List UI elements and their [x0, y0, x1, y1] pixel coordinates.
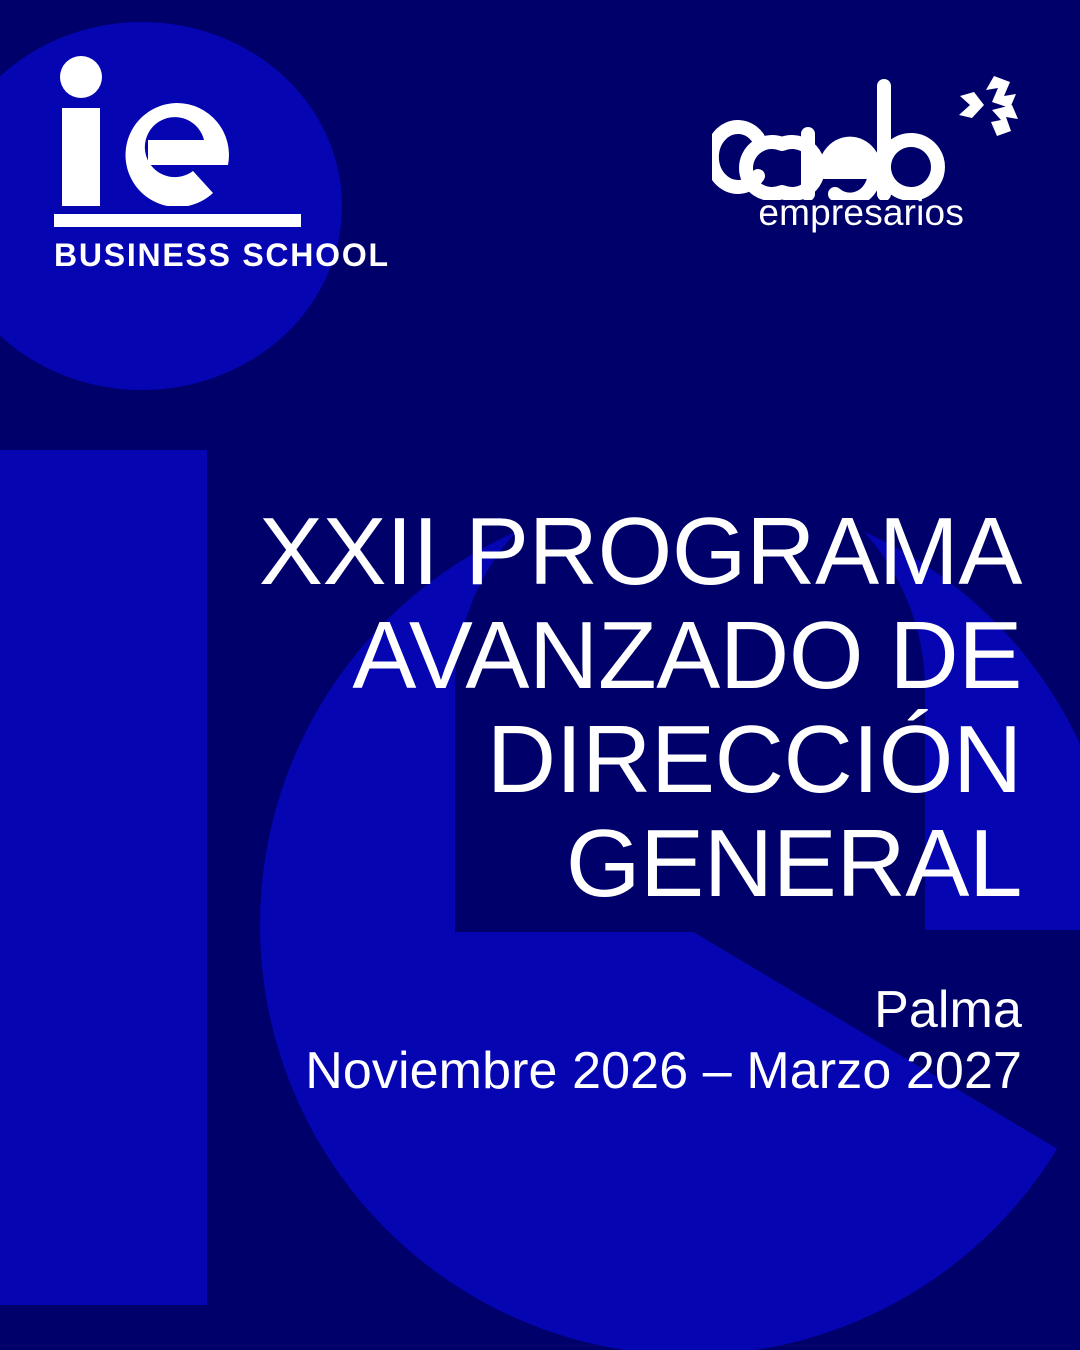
caeb-logo-row — [712, 72, 1022, 200]
caeb-logo: empresarios — [712, 72, 1022, 231]
ie-logo-rule — [54, 214, 301, 227]
headline-line-4: GENERAL — [122, 812, 1022, 916]
caeb-wordmark-icon — [712, 72, 952, 200]
ie-business-school-logo: BUSINESS SCHOOL — [54, 56, 314, 271]
ie-monogram-icon — [54, 56, 254, 206]
event-location: Palma — [305, 980, 1022, 1041]
event-date-range: Noviembre 2026 – Marzo 2027 — [305, 1041, 1022, 1102]
event-details: Palma Noviembre 2026 – Marzo 2027 — [305, 980, 1022, 1103]
headline-line-2: AVANZADO DE — [122, 604, 1022, 708]
promo-poster: BUSINESS SCHOOL — [0, 0, 1080, 1350]
caeb-star-icon — [956, 74, 1022, 140]
headline-line-3: DIRECCIÓN — [122, 708, 1022, 812]
page-title: XXII PROGRAMA AVANZADO DE DIRECCIÓN GENE… — [122, 500, 1022, 917]
headline-line-1: XXII PROGRAMA — [122, 500, 1022, 604]
ie-logo-subtitle: BUSINESS SCHOOL — [54, 239, 314, 271]
